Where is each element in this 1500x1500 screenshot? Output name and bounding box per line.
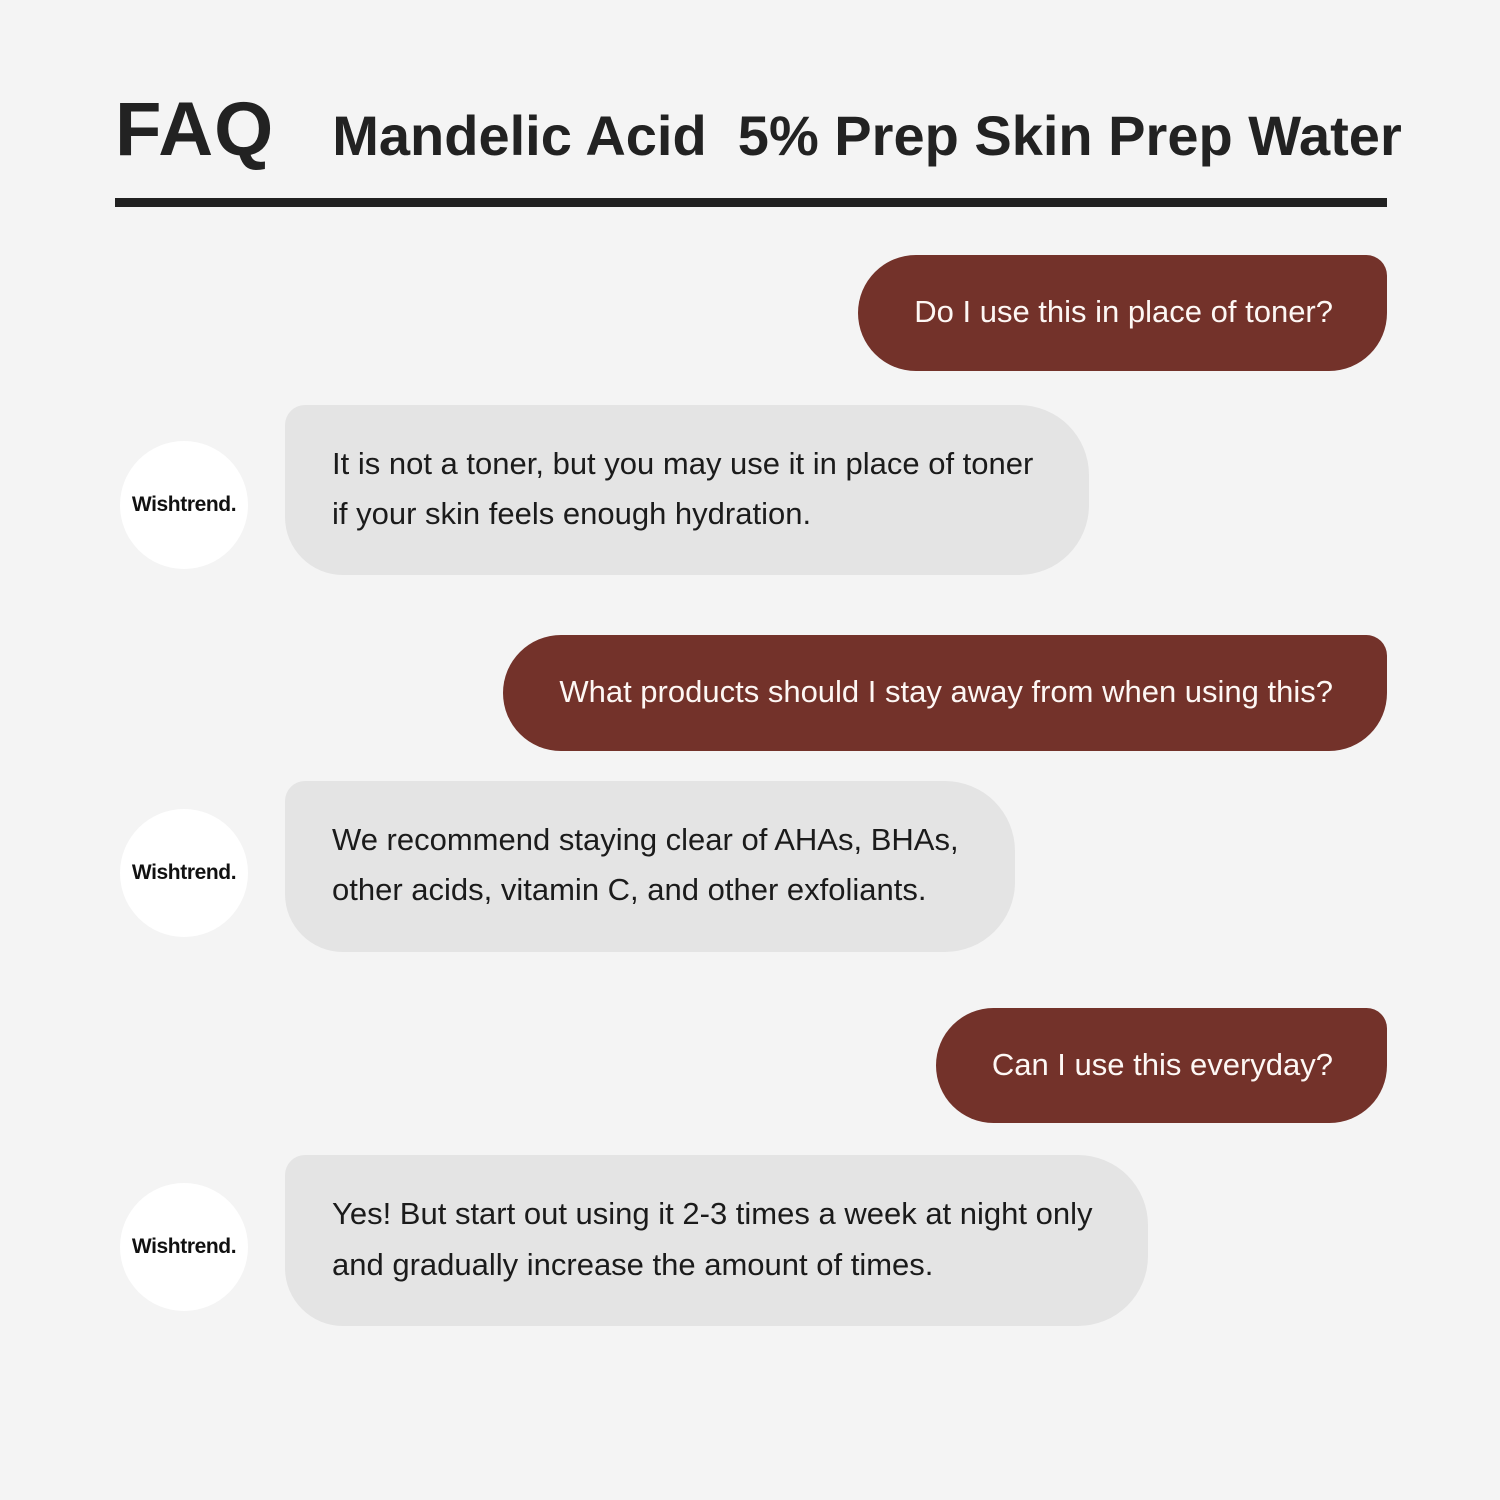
- header-underline: [115, 198, 1387, 207]
- brand-logo-text: Wishtrend.: [132, 1235, 236, 1259]
- question-row: What products should I stay away from wh…: [0, 635, 1500, 751]
- question-row: Do I use this in place of toner?: [0, 255, 1500, 371]
- answer-row: Wishtrend. Yes! But start out using it 2…: [0, 1155, 1500, 1325]
- answer-line: We recommend staying clear of AHAs, BHAs…: [332, 815, 959, 865]
- brand-logo-text: Wishtrend.: [132, 861, 236, 885]
- page-title: Mandelic Acid 5% Prep Skin Prep Water: [332, 108, 1402, 164]
- answer-line: other acids, vitamin C, and other exfoli…: [332, 865, 959, 915]
- answer-bubble[interactable]: We recommend staying clear of AHAs, BHAs…: [285, 781, 1015, 951]
- faq-conversation: Do I use this in place of toner? Wishtre…: [0, 255, 1500, 1326]
- header-row: FAQ Mandelic Acid 5% Prep Skin Prep Wate…: [115, 92, 1387, 168]
- avatar: Wishtrend.: [120, 441, 248, 569]
- spacer: [0, 1123, 1500, 1155]
- faq-badge: FAQ: [115, 92, 274, 168]
- answer-bubble[interactable]: It is not a toner, but you may use it in…: [285, 405, 1089, 575]
- qa-group: Do I use this in place of toner? Wishtre…: [0, 255, 1500, 575]
- avatar: Wishtrend.: [120, 1183, 248, 1311]
- answer-line: It is not a toner, but you may use it in…: [332, 439, 1033, 489]
- question-bubble[interactable]: What products should I stay away from wh…: [503, 635, 1387, 751]
- question-row: Can I use this everyday?: [0, 1008, 1500, 1124]
- brand-logo-text: Wishtrend.: [132, 493, 236, 517]
- page-header: FAQ Mandelic Acid 5% Prep Skin Prep Wate…: [115, 92, 1387, 168]
- spacer: [0, 751, 1500, 781]
- question-bubble[interactable]: Do I use this in place of toner?: [858, 255, 1387, 371]
- answer-row: Wishtrend. It is not a toner, but you ma…: [0, 405, 1500, 575]
- question-bubble[interactable]: Can I use this everyday?: [936, 1008, 1387, 1124]
- answer-line: if your skin feels enough hydration.: [332, 489, 1033, 539]
- spacer: [0, 371, 1500, 405]
- answer-bubble[interactable]: Yes! But start out using it 2-3 times a …: [285, 1155, 1148, 1325]
- avatar: Wishtrend.: [120, 809, 248, 937]
- answer-row: Wishtrend. We recommend staying clear of…: [0, 781, 1500, 951]
- qa-group: What products should I stay away from wh…: [0, 635, 1500, 951]
- answer-line: and gradually increase the amount of tim…: [332, 1240, 1092, 1290]
- qa-group: Can I use this everyday? Wishtrend. Yes!…: [0, 1008, 1500, 1326]
- faq-page: FAQ Mandelic Acid 5% Prep Skin Prep Wate…: [0, 0, 1500, 1500]
- answer-line: Yes! But start out using it 2-3 times a …: [332, 1189, 1092, 1239]
